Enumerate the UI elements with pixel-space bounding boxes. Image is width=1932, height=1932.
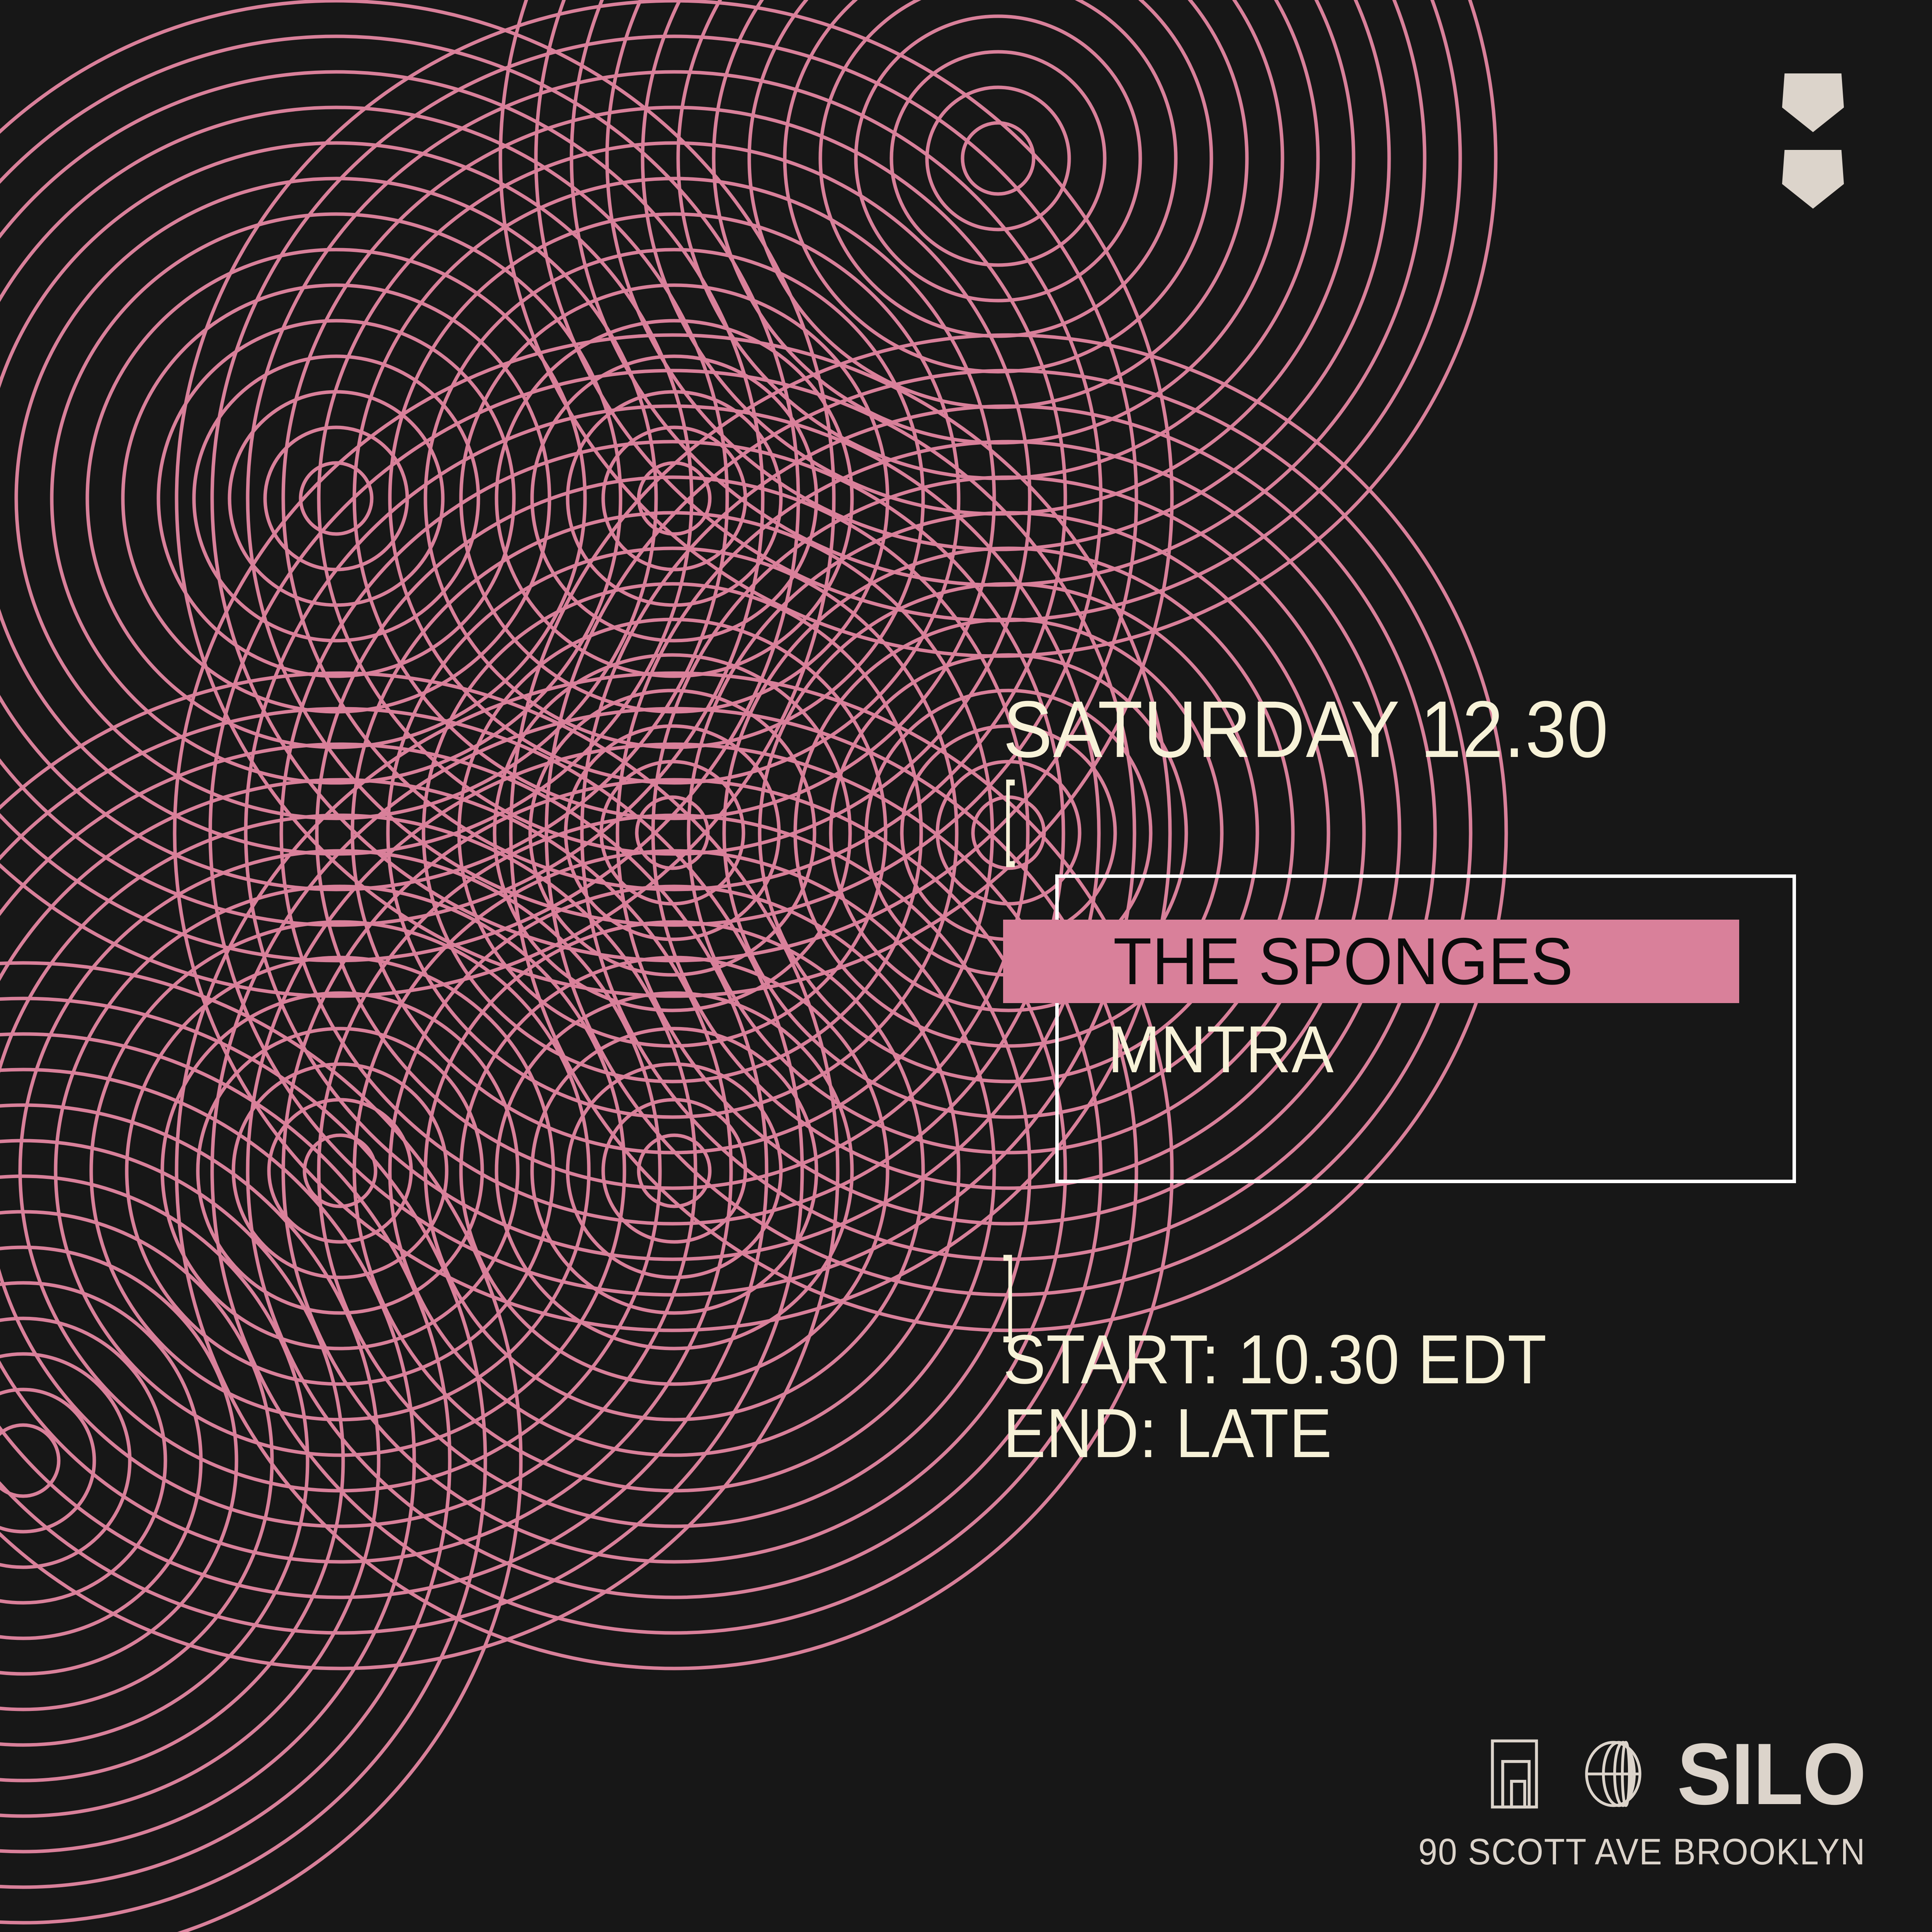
lineup-item-headliner-label: THE SPONGES bbox=[1113, 928, 1573, 995]
bracket-open: [ bbox=[1003, 778, 1506, 857]
start-time: START: 10.30 EDT bbox=[1003, 1323, 1547, 1397]
silo-building-icon bbox=[1488, 1737, 1561, 1811]
double-pentagon-mark bbox=[1782, 73, 1844, 213]
bracket-close: ] bbox=[1003, 1253, 1370, 1332]
set-times: ] START: 10.30 EDT END: LATE bbox=[1003, 1252, 1594, 1471]
event-details: SATURDAY 12.30 [ THE SPONGES MNTRA ] STA… bbox=[1003, 692, 1815, 836]
silo-wordmark: SILO bbox=[1677, 1738, 1866, 1810]
globe-icon bbox=[1575, 1737, 1652, 1811]
pentagon-icon-top bbox=[1782, 73, 1844, 132]
lineup-item-headliner: THE SPONGES bbox=[1003, 920, 1739, 1003]
poster-canvas: SATURDAY 12.30 [ THE SPONGES MNTRA ] STA… bbox=[0, 0, 1932, 1932]
lineup-item-support: MNTRA bbox=[1003, 1016, 1774, 1083]
event-date-headline: SATURDAY 12.30 bbox=[1003, 692, 1750, 768]
end-time: END: LATE bbox=[1003, 1397, 1547, 1471]
silo-lockup: SILO bbox=[1379, 1737, 1866, 1811]
venue-address: 90 SCOTT AVE BROOKLYN bbox=[1418, 1831, 1866, 1873]
lineup-list: THE SPONGES MNTRA bbox=[1003, 920, 1815, 1083]
venue-footer: SILO 90 SCOTT AVE BROOKLYN bbox=[1379, 1737, 1866, 1873]
pentagon-icon-bottom bbox=[1782, 150, 1844, 209]
